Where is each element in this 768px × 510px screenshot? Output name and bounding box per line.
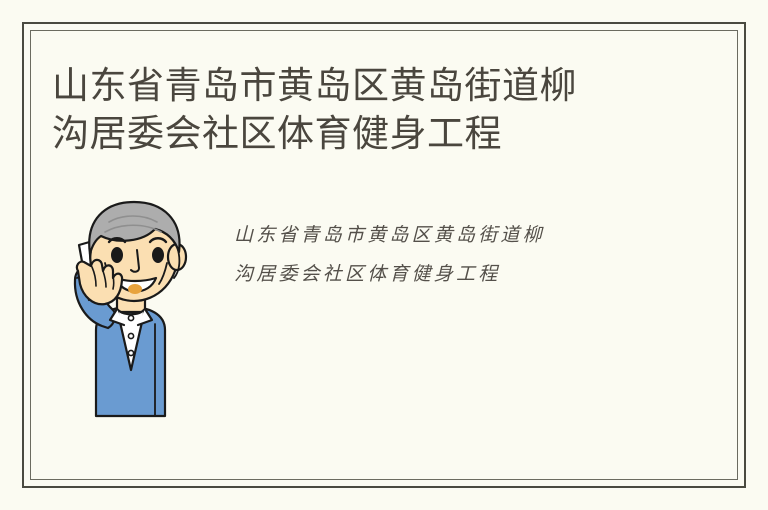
page-title: 山东省青岛市黄岛区黄岛街道柳 沟居委会社区体育健身工程 — [52, 62, 652, 158]
finger-line-3 — [113, 276, 114, 289]
elderly-man-on-phone-illustration — [55, 192, 205, 420]
caption-text: 山东省青岛市黄岛区黄岛街道柳 沟居委会社区体育健身工程 — [234, 216, 654, 294]
shirt-button-2 — [128, 333, 133, 338]
tongue — [128, 284, 142, 294]
left-eye — [111, 247, 123, 263]
right-eye — [152, 247, 164, 263]
poster-card: 山东省青岛市黄岛区黄岛街道柳 沟居委会社区体育健身工程 山东省青岛市黄岛区黄岛街… — [0, 0, 768, 510]
shirt-button-1 — [128, 315, 133, 320]
shirt-button-3 — [128, 350, 133, 355]
